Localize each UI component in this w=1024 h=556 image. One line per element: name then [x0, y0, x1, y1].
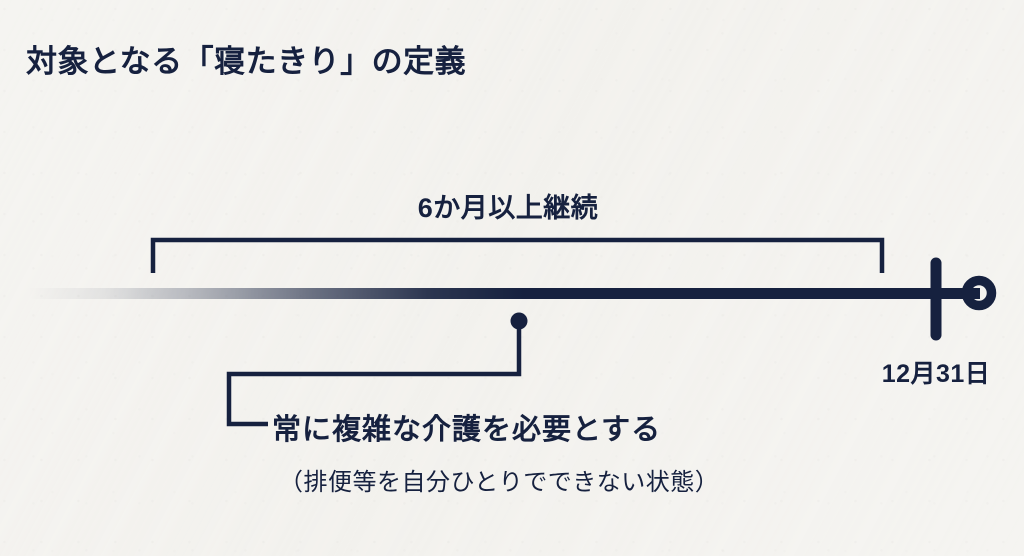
duration-bracket: [153, 240, 882, 273]
care-requirement-label: 常に複雑な介護を必要とする: [272, 406, 661, 448]
care-requirement-sublabel: （排便等を自分ひとりでできない状態）: [279, 462, 719, 497]
end-date-label: 12月31日: [882, 354, 991, 390]
duration-label: 6か月以上継続: [0, 186, 1024, 225]
duration-label-text: 6か月以上継続: [418, 186, 599, 225]
care-connector-dot: [511, 313, 528, 330]
timeline-axis: [28, 288, 980, 299]
